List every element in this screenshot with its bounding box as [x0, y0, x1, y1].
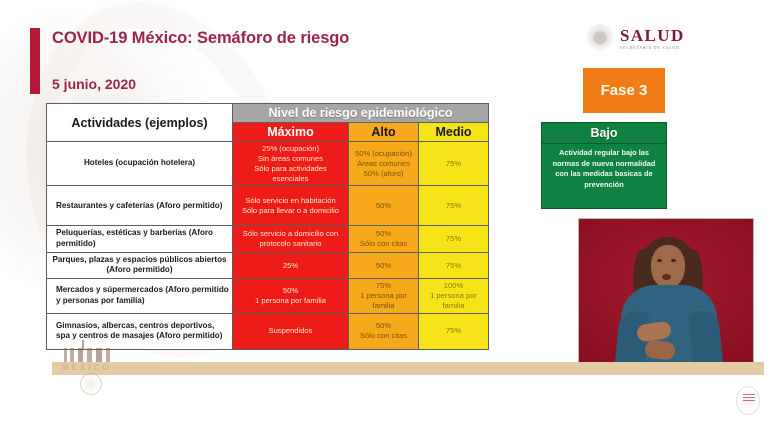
row-alto-value: 50%Sólo con citas [349, 226, 419, 252]
row-alto-value: 50% [349, 252, 419, 278]
row-medio-value: 75% [419, 226, 489, 252]
row-alto-value: 50% [349, 186, 419, 226]
row-activity: Restaurantes y cafeterías (Aforo permiti… [47, 186, 233, 226]
government-footer-label: MÉXICO [62, 363, 112, 372]
salud-logo: SALUD SECRETARÍA DE SALUD [586, 24, 685, 52]
table-row: Peluquerías, estéticas y barberías (Afor… [47, 226, 489, 252]
column-header-maximo: Máximo [233, 123, 349, 142]
salud-subtitle: SECRETARÍA DE SALUD [620, 46, 685, 50]
row-maximo-value: 50%1 persona por familia [233, 279, 349, 314]
title-accent-bar [30, 28, 40, 94]
row-maximo-value: Sólo servicio a domicilio con protocolo … [233, 226, 349, 252]
interpreter-face [651, 245, 685, 289]
row-activity: Mercados y súpermercados (Aforo permitid… [47, 279, 233, 314]
risk-level-table: Actividades (ejemplos) Nivel de riesgo e… [46, 103, 489, 350]
table-row: Hoteles (ocupación hotelera) 25% (ocupac… [47, 142, 489, 186]
corner-seal-watermark [736, 386, 760, 415]
column-header-activities: Actividades (ejemplos) [47, 104, 233, 142]
row-maximo-value: 25% [233, 252, 349, 278]
table-row: Gimnasios, albercas, centros deportivos,… [47, 313, 489, 349]
slide-date: 5 junio, 2020 [52, 76, 136, 92]
mexico-government-emblem-icon [62, 340, 112, 362]
table-body: Hoteles (ocupación hotelera) 25% (ocupac… [47, 142, 489, 350]
low-risk-panel: Bajo Actividad regular bajo las normas d… [541, 122, 667, 209]
row-alto-value: 50% (ocupación)Áreas comunes50% (aforo) [349, 142, 419, 186]
interpreter-eye-left [657, 259, 662, 262]
row-activity: Hoteles (ocupación hotelera) [47, 142, 233, 186]
row-medio-value: 100%1 persona por familia [419, 279, 489, 314]
salud-wordmark: SALUD [620, 27, 685, 44]
table-row: Parques, plazas y espacios públicos abie… [47, 252, 489, 278]
government-seal-watermark [80, 373, 102, 395]
sign-language-interpreter-feed[interactable] [578, 218, 754, 375]
row-maximo-value: 25% (ocupación)Sin áreas comunesSólo par… [233, 142, 349, 186]
row-medio-value: 75% [419, 142, 489, 186]
row-activity: Peluquerías, estéticas y barberías (Afor… [47, 226, 233, 252]
presentation-slide: COVID-19 México: Semáforo de riesgo 5 ju… [0, 0, 770, 423]
phase-badge: Fase 3 [583, 68, 665, 113]
interpreter-eye-right [671, 259, 676, 262]
row-maximo-value: Suspendidos [233, 313, 349, 349]
government-footer-bar [52, 362, 764, 375]
row-alto-value: 50%Sólo con citas [349, 313, 419, 349]
table-row: Restaurantes y cafeterías (Aforo permiti… [47, 186, 489, 226]
row-medio-value: 75% [419, 252, 489, 278]
row-activity: Parques, plazas y espacios públicos abie… [47, 252, 233, 278]
low-risk-description: Actividad regular bajo las normas de nue… [542, 144, 666, 190]
page-title: COVID-19 México: Semáforo de riesgo [52, 29, 349, 48]
row-medio-value: 75% [419, 313, 489, 349]
column-header-risk-group: Nivel de riesgo epidemiológico [233, 104, 489, 123]
row-maximo-value: Sólo servicio en habitaciónSólo para lle… [233, 186, 349, 226]
row-medio-value: 75% [419, 186, 489, 226]
interpreter-mouth [662, 274, 671, 280]
column-header-alto: Alto [349, 123, 419, 142]
row-alto-value: 75%1 persona por familia [349, 279, 419, 314]
table-header-group-row: Actividades (ejemplos) Nivel de riesgo e… [47, 104, 489, 123]
column-header-medio: Medio [419, 123, 489, 142]
mexico-eagle-icon [586, 24, 614, 52]
low-risk-title: Bajo [590, 126, 617, 140]
table-row: Mercados y súpermercados (Aforo permitid… [47, 279, 489, 314]
